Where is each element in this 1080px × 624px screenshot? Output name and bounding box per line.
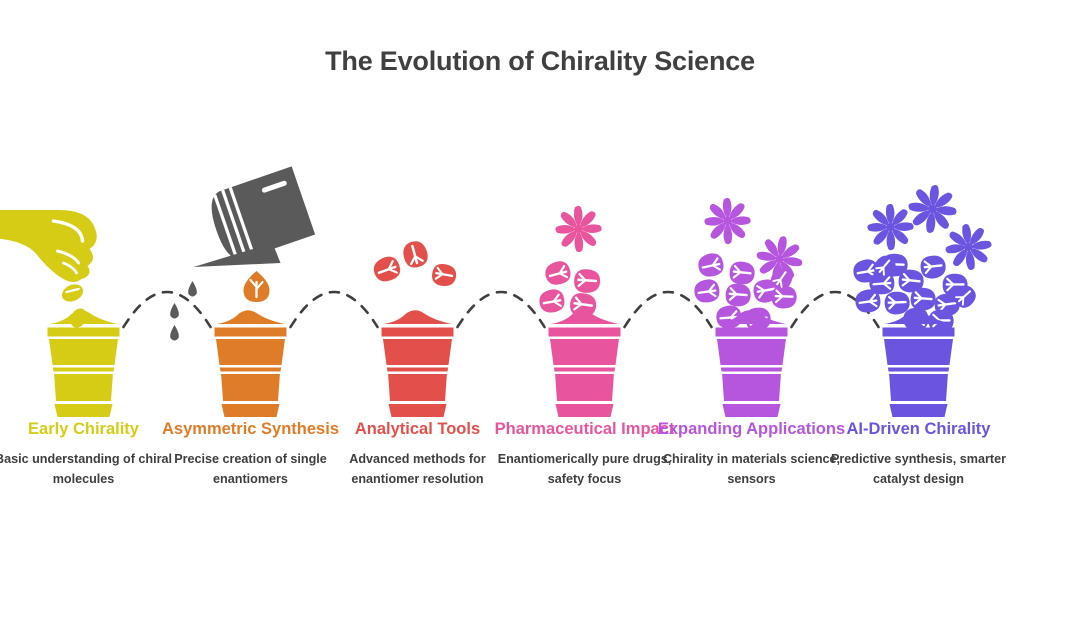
stage-labels: Pharmaceutical ImpactEnantiomerically pu… (489, 418, 680, 489)
stage-title: AI-Driven Chirality (823, 418, 1014, 441)
stage-labels: Analytical ToolsAdvanced methods for ena… (322, 418, 513, 489)
stage-illustration (835, 150, 1002, 415)
stage-description: Enantiomerically pure drugs, safety focu… (489, 450, 680, 489)
three-leaves-icon (334, 150, 501, 415)
stage-title: Analytical Tools (322, 418, 513, 441)
blooming-plant-icon (668, 150, 835, 415)
stage-description: Predictive synthesis, smarter catalyst d… (823, 450, 1014, 489)
stage-early-chirality[interactable]: Early ChiralityBasic understanding of ch… (0, 150, 167, 590)
stage-description: Precise creation of single enantiomers (155, 450, 346, 489)
stage-ai-driven-chirality[interactable]: AI-Driven ChiralityPredictive synthesis,… (835, 150, 1002, 590)
stage-analytical-tools[interactable]: Analytical ToolsAdvanced methods for ena… (334, 150, 501, 590)
stage-asymmetric-synthesis[interactable]: Asymmetric SynthesisPrecise creation of … (167, 150, 334, 590)
flower-and-leaves-icon (501, 150, 668, 415)
stage-title: Pharmaceutical Impact (489, 418, 680, 441)
stage-title: Early Chirality (0, 418, 179, 441)
stage-pharmaceutical-impact[interactable]: Pharmaceutical ImpactEnantiomerically pu… (501, 150, 668, 590)
stage-labels: Expanding ApplicationsChirality in mater… (656, 418, 847, 489)
page-title: The Evolution of Chirality Science (0, 46, 1080, 77)
stage-expanding-applications[interactable]: Expanding ApplicationsChirality in mater… (668, 150, 835, 590)
watering-can-icon (167, 150, 334, 415)
stage-description: Basic understanding of chiral molecules (0, 450, 179, 489)
stage-description: Chirality in materials science, sensors (656, 450, 847, 489)
stage-labels: Early ChiralityBasic understanding of ch… (0, 418, 179, 489)
stage-title: Asymmetric Synthesis (155, 418, 346, 441)
stage-illustration (334, 150, 501, 415)
stage-illustration (167, 150, 334, 415)
hand-sowing-seed-icon (0, 150, 167, 415)
stage-description: Advanced methods for enantiomer resoluti… (322, 450, 513, 489)
stage-illustration (668, 150, 835, 415)
stage-title: Expanding Applications (656, 418, 847, 441)
full-bloom-plant-icon (835, 150, 1002, 415)
stage-illustration (501, 150, 668, 415)
stage-labels: Asymmetric SynthesisPrecise creation of … (155, 418, 346, 489)
infographic-canvas: The Evolution of Chirality Science Early… (0, 0, 1080, 624)
stage-labels: AI-Driven ChiralityPredictive synthesis,… (823, 418, 1014, 489)
stage-illustration (0, 150, 167, 415)
stage-list: Early ChiralityBasic understanding of ch… (0, 150, 1080, 590)
